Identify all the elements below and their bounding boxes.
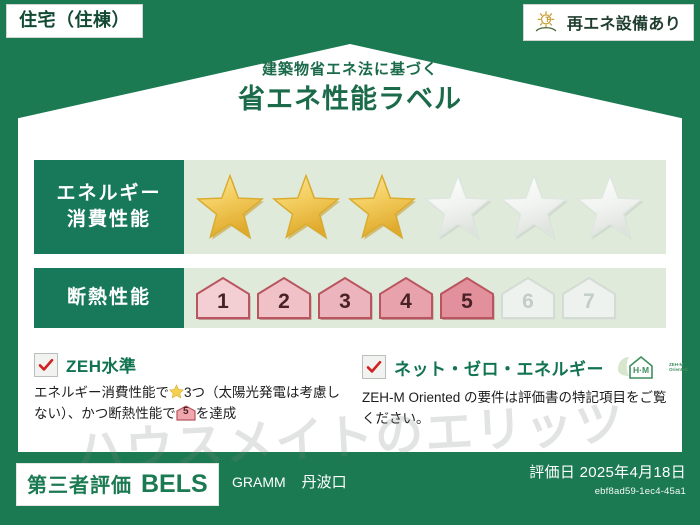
- building-category-label: 住宅（住棟）: [19, 10, 130, 30]
- star-empty-icon: [422, 172, 494, 242]
- insulation-performance-row: 断熱性能 1234567: [34, 268, 666, 328]
- insulation-performance-label: 断熱性能: [34, 268, 184, 328]
- grade-filled: 1: [194, 275, 252, 321]
- bels-en-label: BELS: [141, 470, 208, 499]
- statement-zehm-title: ネット・ゼロ・エネルギー: [394, 355, 604, 380]
- grade-number: 2: [278, 290, 290, 321]
- statement-zeh-title: ZEH水準: [66, 352, 137, 377]
- grade-filled: 3: [316, 275, 374, 321]
- builder-info: GRAMM 丹波口: [232, 471, 347, 492]
- energy-performance-value: [184, 160, 666, 254]
- statement-zeh-body: エネルギー消費性能で3つ（太陽光発電は考慮しない）、かつ断熱性能で5を達成: [34, 383, 342, 425]
- evaluation-id: ebf8ad59-1ec4-45a1: [529, 486, 686, 497]
- grade-number: 1: [217, 290, 229, 321]
- star-empty-icon: [574, 172, 646, 242]
- zeh-m-logo-icon: H·M: [614, 352, 660, 382]
- grade-filled: 4: [377, 275, 435, 321]
- statement-zehm-header: ネット・ゼロ・エネルギー H·M ZEH-M Oriented: [362, 352, 670, 382]
- grade-number: 7: [583, 290, 595, 321]
- statement-zeh-header: ZEH水準: [34, 352, 342, 377]
- star-filled-icon: [346, 172, 418, 242]
- statement-zehm: ネット・ゼロ・エネルギー H·M ZEH-M Oriented ZEH-M Or…: [362, 352, 670, 430]
- label-footer: 第三者評価 BELS GRAMM 丹波口 評価日 2025年4月18日 ebf8…: [0, 453, 700, 525]
- grade-number: 6: [522, 290, 534, 321]
- energy-performance-row: エネルギー 消費性能: [34, 160, 666, 254]
- statement-zeh: ZEH水準 エネルギー消費性能で3つ（太陽光発電は考慮しない）、かつ断熱性能で5…: [34, 352, 342, 430]
- statement-zehm-body: ZEH-M Oriented の要件は評価書の特記項目をご覧ください。: [362, 388, 670, 430]
- energy-performance-label: エネルギー 消費性能: [34, 160, 184, 254]
- label-title: 省エネ性能ラベル: [0, 85, 700, 115]
- inline-star-icon: [169, 384, 184, 399]
- star-rating: [184, 172, 646, 242]
- energy-performance-label: 住宅（住棟） 再エネ設備あり 建築物省エネ法に基づく 省エネ性能ラベル エネルギ…: [0, 0, 700, 525]
- star-empty-icon: [498, 172, 570, 242]
- insulation-performance-value: 1234567: [184, 268, 666, 328]
- evaluation-info: 評価日 2025年4月18日 ebf8ad59-1ec4-45a1: [529, 461, 686, 497]
- evaluation-date: 評価日 2025年4月18日: [529, 461, 686, 482]
- grade-number: 5: [461, 290, 473, 321]
- grade-filled: 5: [438, 275, 496, 321]
- grade-number: 3: [339, 290, 351, 321]
- star-filled-icon: [194, 172, 266, 242]
- building-category-badge: 住宅（住棟）: [6, 4, 143, 38]
- renewable-energy-badge: 再エネ設備あり: [523, 4, 694, 41]
- svg-text:H·M: H·M: [633, 365, 649, 375]
- star-filled-icon: [270, 172, 342, 242]
- inline-grade-icon: 5: [176, 405, 196, 421]
- check-icon: [362, 355, 386, 379]
- label-subtitle: 建築物省エネ法に基づく: [0, 62, 700, 79]
- grade-empty: 7: [560, 275, 618, 321]
- renewable-energy-label: 再エネ設備あり: [567, 10, 681, 34]
- bels-jp-label: 第三者評価: [27, 469, 132, 498]
- grade-filled: 2: [255, 275, 313, 321]
- statements-section: ZEH水準 エネルギー消費性能で3つ（太陽光発電は考慮しない）、かつ断熱性能で5…: [34, 352, 670, 430]
- zeh-m-logo-caption: ZEH-M Oriented: [669, 362, 688, 372]
- builder-site: 丹波口: [302, 471, 347, 492]
- sun-solar-icon: [532, 9, 560, 35]
- check-icon: [34, 353, 58, 377]
- grade-number: 4: [400, 290, 412, 321]
- builder-name: GRAMM: [232, 474, 286, 490]
- bels-certification-badge: 第三者評価 BELS: [16, 463, 219, 506]
- grade-scale: 1234567: [184, 275, 618, 321]
- grade-empty: 6: [499, 275, 557, 321]
- label-heading: 建築物省エネ法に基づく 省エネ性能ラベル: [0, 62, 700, 114]
